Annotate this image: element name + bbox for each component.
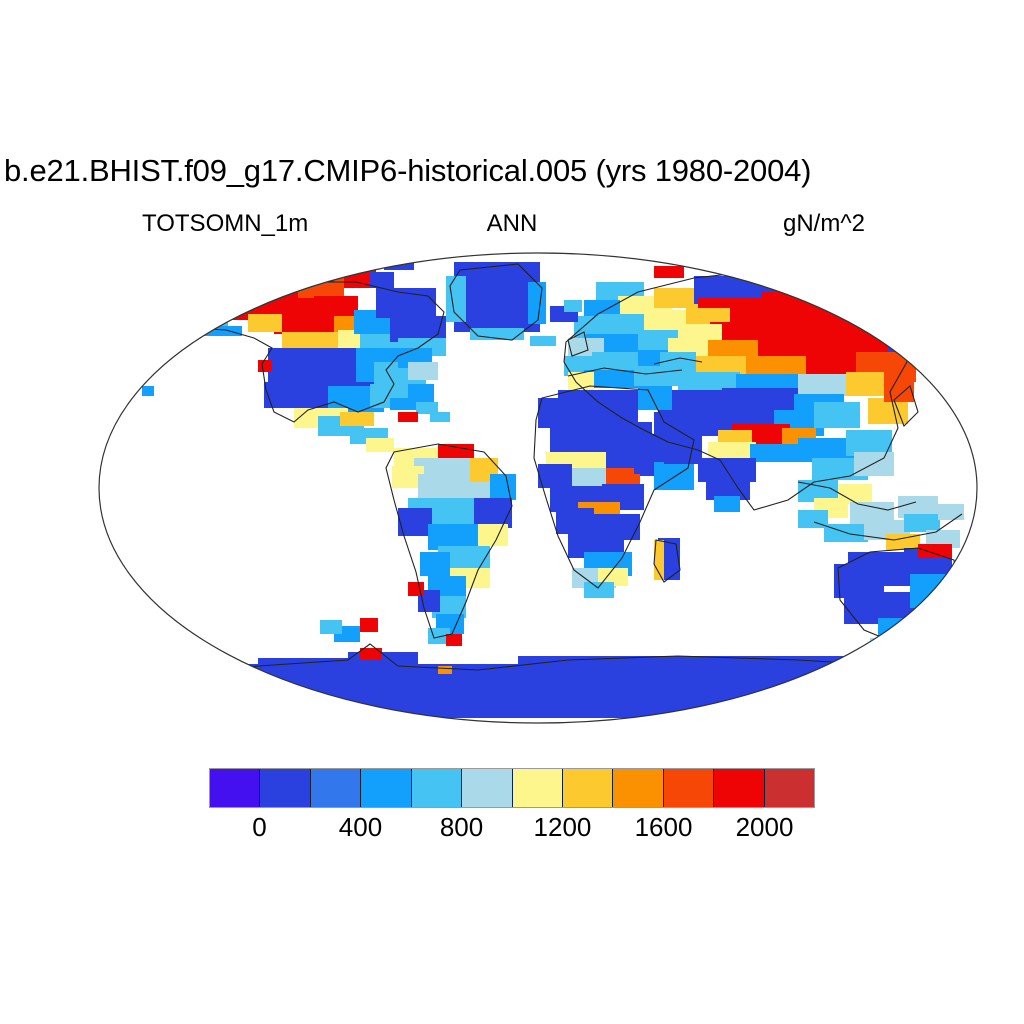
region-antarctic-peninsula <box>320 618 378 642</box>
colorbar-cell-3 <box>361 769 411 807</box>
region-southeast-asia <box>798 480 964 550</box>
season-label: ANN <box>0 210 1024 238</box>
map-data-raster <box>118 256 978 718</box>
colorbar-tick-1200: 1200 <box>534 812 592 842</box>
colorbar-cell-0 <box>210 769 260 807</box>
colorbar-cell-7 <box>563 769 613 807</box>
colorbar-tick-400: 400 <box>339 812 382 842</box>
figure-canvas: b.e21.BHIST.f09_g17.CMIP6-historical.005… <box>0 0 1024 1024</box>
map-svg <box>98 252 978 724</box>
colorbar-tick-2000: 2000 <box>736 812 794 842</box>
colorbar-cell-2 <box>311 769 361 807</box>
units-label: gN/m^2 <box>783 210 865 238</box>
colorbar-tick-0: 0 <box>252 812 266 842</box>
colorbar-tick-labels: 0400800120016002000 <box>209 812 815 846</box>
colorbar-cell-8 <box>613 769 663 807</box>
region-south-america <box>392 444 516 646</box>
colorbar-cell-11 <box>765 769 814 807</box>
colorbar-cell-4 <box>412 769 462 807</box>
colorbar-tick-800: 800 <box>440 812 483 842</box>
colorbar-cells <box>209 768 815 808</box>
colorbar-cell-10 <box>714 769 764 807</box>
colorbar-cell-9 <box>664 769 714 807</box>
region-canada <box>238 256 446 356</box>
colorbar <box>209 768 815 808</box>
colorbar-cell-5 <box>462 769 512 807</box>
region-siberia <box>654 258 924 396</box>
colorbar-tick-1600: 1600 <box>635 812 693 842</box>
region-iceland <box>550 300 582 322</box>
colorbar-cell-6 <box>513 769 563 807</box>
colorbar-cell-1 <box>260 769 310 807</box>
figure-title: b.e21.BHIST.f09_g17.CMIP6-historical.005… <box>4 154 1020 188</box>
world-map-plot <box>98 252 978 724</box>
region-hawaii <box>142 386 154 396</box>
